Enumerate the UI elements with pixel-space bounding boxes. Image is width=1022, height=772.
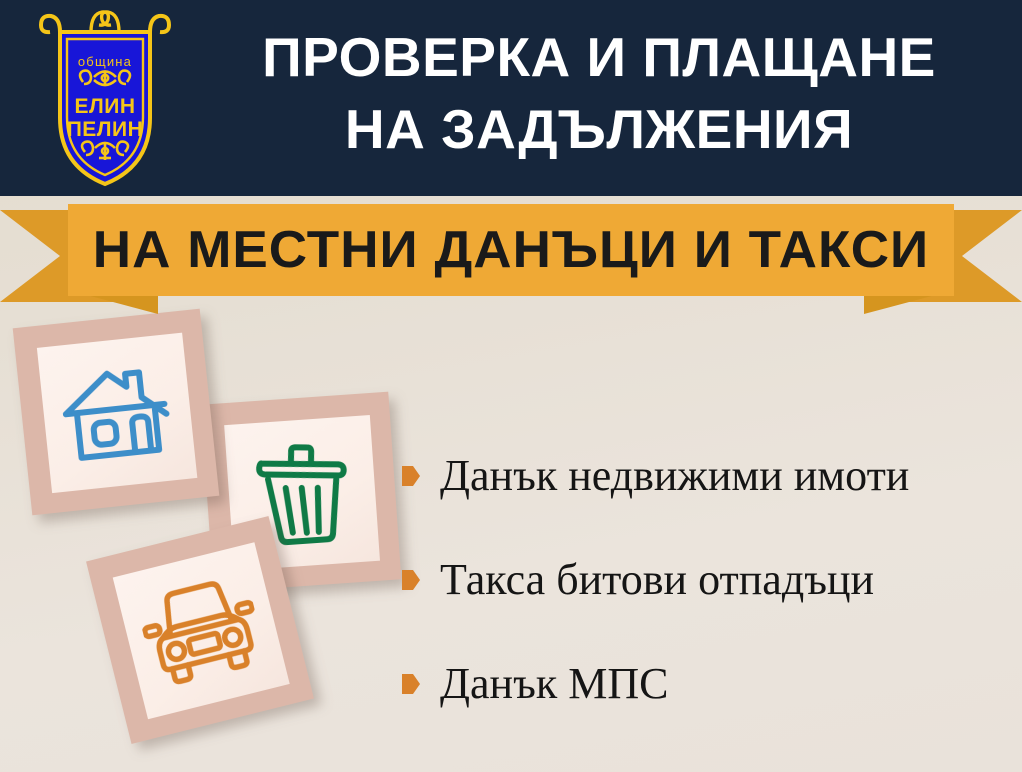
ribbon-label: НА МЕСТНИ ДАНЪЦИ И ТАКСИ [93, 220, 929, 280]
page-title: ПРОВЕРКА И ПЛАЩАНЕ НА ЗАДЪЛЖЕНИЯ [180, 22, 1018, 165]
arrow-bullet-icon [402, 673, 420, 695]
title-line-2: НА ЗАДЪЛЖЕНИЯ [180, 94, 1018, 166]
house-icon [56, 355, 178, 470]
stamp-inner-face [37, 333, 197, 493]
svg-text:ЕЛИН: ЕЛИН [74, 95, 135, 118]
list-item-label: Такса битови отпадъци [440, 558, 874, 602]
poster-canvas: община ЕЛИН ПЕЛИН [0, 0, 1022, 772]
municipality-crest: община ЕЛИН ПЕЛИН [36, 6, 174, 190]
svg-text:община: община [78, 54, 132, 69]
stamp-card-property [13, 309, 220, 516]
header-banner: община ЕЛИН ПЕЛИН [0, 0, 1022, 196]
subtitle-ribbon: НА МЕСТНИ ДАНЪЦИ И ТАКСИ [0, 196, 1022, 314]
list-item-label: Данък недвижими имоти [440, 454, 909, 498]
list-item: Данък недвижими имоти [402, 424, 1012, 528]
list-item: Данък МПС [402, 632, 1012, 736]
arrow-bullet-icon [402, 465, 420, 487]
svg-text:ПЕЛИН: ПЕЛИН [67, 118, 144, 141]
ribbon-band: НА МЕСТНИ ДАНЪЦИ И ТАКСИ [68, 204, 954, 296]
car-front-icon [134, 570, 268, 691]
arrow-bullet-icon [402, 569, 420, 591]
obligation-type-list: Данък недвижими имоти Такса битови отпад… [402, 424, 1012, 736]
list-item-label: Данък МПС [440, 662, 668, 706]
list-item: Такса битови отпадъци [402, 528, 1012, 632]
title-line-1: ПРОВЕРКА И ПЛАЩАНЕ [180, 22, 1018, 94]
